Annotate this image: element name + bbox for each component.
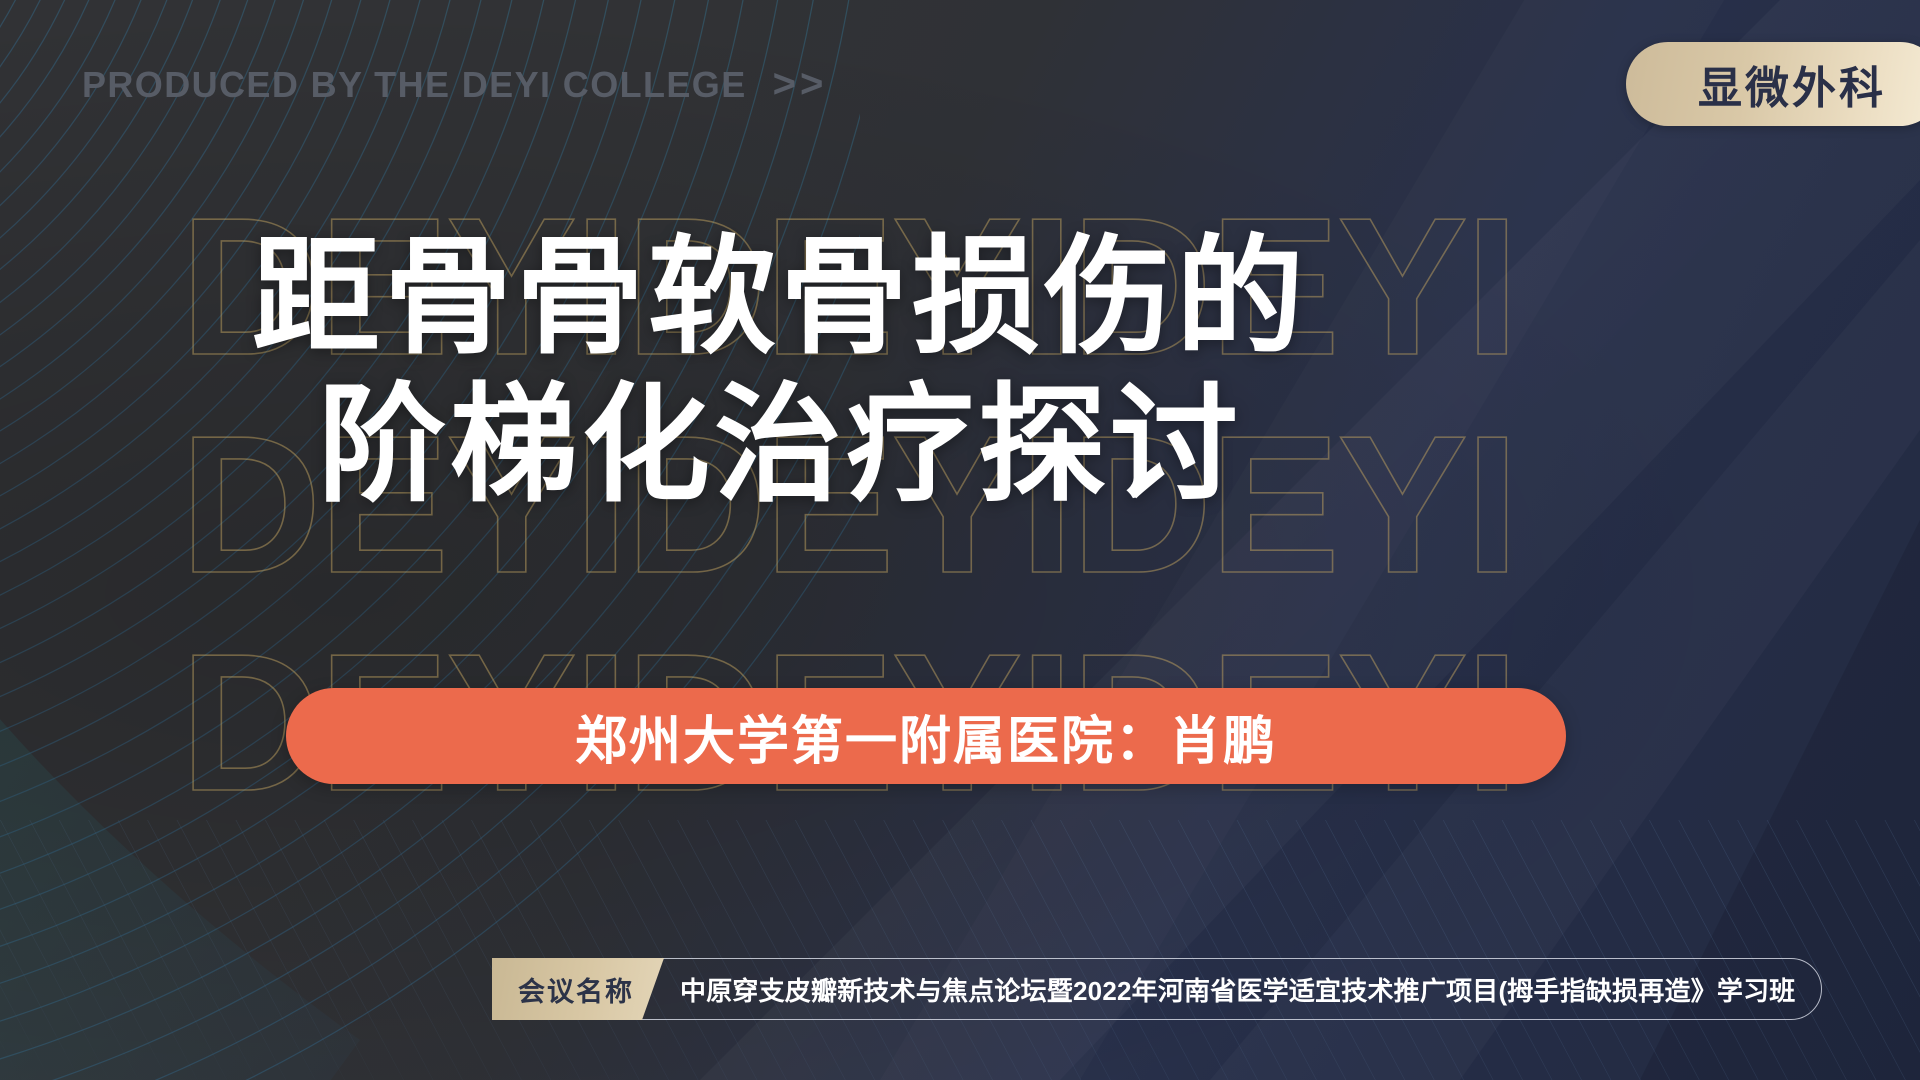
- category-badge: 显微外科: [1626, 42, 1920, 126]
- speaker-banner-label: 郑州大学第一附属医院：肖鹏: [575, 699, 1277, 774]
- conference-name-tag: 会议名称: [492, 958, 664, 1020]
- speaker-banner: 郑州大学第一附属医院：肖鹏: [286, 688, 1566, 784]
- title-line-1: 距骨骨软骨损伤的: [0, 224, 1560, 372]
- produced-by-label: PRODUCED BY THE DEYI COLLEGE: [82, 64, 747, 106]
- produced-by-header: PRODUCED BY THE DEYI COLLEGE >>: [82, 62, 827, 107]
- presentation-slide: DEYIDEYIDEYI DEYIDEYIDEYI DEYIDEYIDEYI P…: [0, 0, 1920, 1080]
- conference-name-tag-label: 会议名称: [518, 970, 634, 1009]
- page-title: 距骨骨软骨损伤的 阶梯化治疗探讨: [0, 224, 1560, 520]
- title-line-2: 阶梯化治疗探讨: [0, 372, 1560, 520]
- double-chevron-right-icon: >>: [773, 62, 828, 107]
- category-badge-label: 显微外科: [1698, 52, 1886, 116]
- conference-bar: 会议名称 中原穿支皮瓣新技术与焦点论坛暨2022年河南省医学适宜技术推广项目(拇…: [492, 958, 1826, 1020]
- background-vignette: [0, 0, 1920, 1080]
- conference-title: 中原穿支皮瓣新技术与焦点论坛暨2022年河南省医学适宜技术推广项目(拇手指缺损再…: [664, 958, 1826, 1020]
